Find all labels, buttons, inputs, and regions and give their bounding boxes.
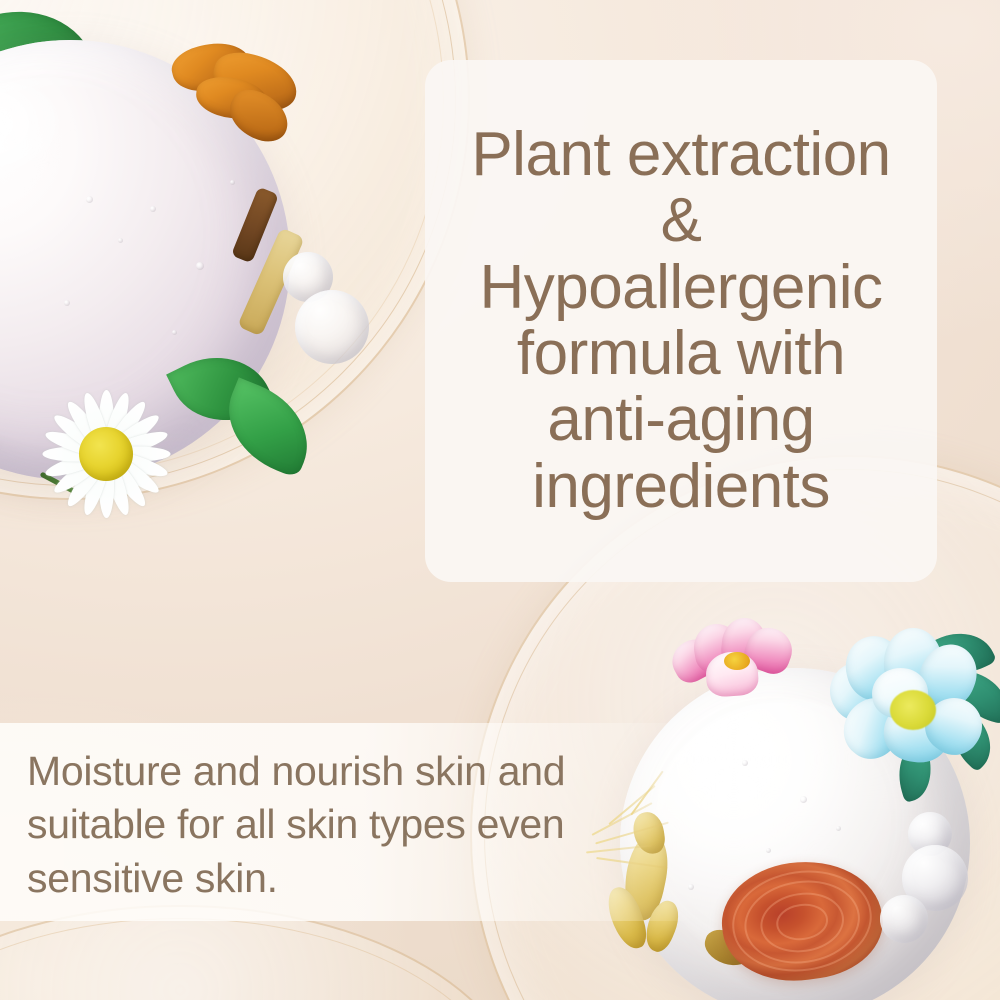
pink-peony-center	[724, 652, 750, 670]
reishi-cap	[715, 851, 890, 990]
headline-line-1: Plant extraction	[471, 120, 890, 189]
bubble	[800, 796, 807, 803]
headline-line-4: formula with	[517, 319, 845, 388]
subtext: Moisture and nourish skin and suitable f…	[27, 745, 617, 905]
bubble	[196, 262, 204, 270]
pink-peony-icon	[672, 618, 800, 710]
headline-line-6: ingredients	[532, 452, 830, 521]
bubble	[86, 196, 93, 203]
daisy-center	[79, 427, 133, 481]
headline-line-5: anti-aging	[547, 385, 814, 454]
dried-turmeric-root-icon	[168, 36, 298, 144]
bubble	[172, 330, 177, 335]
blue-peony-center	[890, 690, 936, 730]
reishi-mushroom-icon	[722, 862, 882, 980]
water-droplet	[295, 290, 369, 364]
chamomile-daisy-icon	[30, 378, 182, 530]
bubble	[64, 300, 70, 306]
headline-line-2: &	[471, 188, 890, 254]
bubble	[766, 848, 771, 853]
bubble	[230, 180, 235, 185]
water-droplet	[880, 895, 928, 943]
blue-peony-icon	[828, 628, 1000, 793]
product-banner: Plant extraction & Hypoallergenic formul…	[0, 0, 1000, 1000]
bubble	[742, 760, 748, 766]
headline-text: Plant extraction & Hypoallergenic formul…	[457, 122, 904, 520]
headline-line-3: Hypoallergenic	[479, 253, 882, 322]
headline-card: Plant extraction & Hypoallergenic formul…	[425, 60, 937, 582]
bubble	[836, 826, 841, 831]
bubble	[118, 238, 123, 243]
bubble	[150, 206, 156, 212]
